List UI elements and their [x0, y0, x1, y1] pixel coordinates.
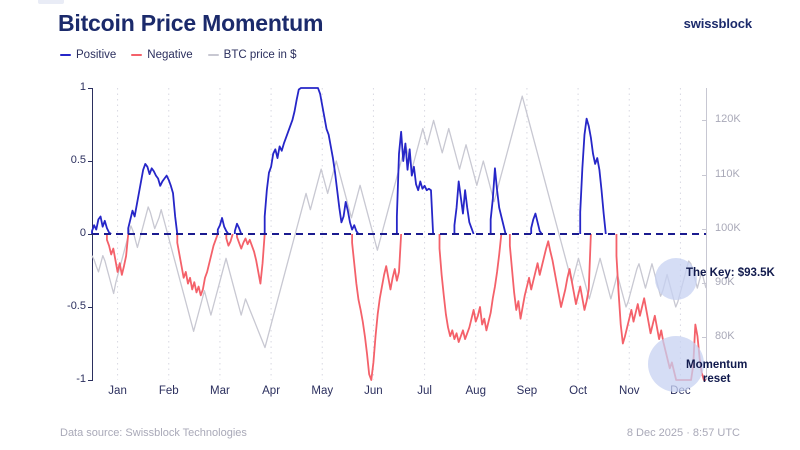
chart-page: Bitcoin Price Momentum swissblock Positi… — [0, 0, 800, 450]
y-axis-right-tick-label: 120K — [715, 113, 741, 125]
series-line-negative — [107, 234, 706, 380]
annotation-the-key: The Key: $93.5K — [686, 266, 775, 280]
plot-area[interactable] — [92, 88, 706, 380]
y-axis-left-tick-mark — [88, 161, 93, 162]
y-axis-left-tick-label: -0.5 — [67, 300, 86, 312]
legend-item-negative[interactable]: Negative — [131, 49, 192, 61]
x-axis-tick-label: Aug — [466, 385, 486, 397]
legend-label-btc-price: BTC price in $ — [224, 49, 297, 61]
y-axis-right-tick-mark — [702, 120, 707, 121]
y-axis-left-tick-label: -1 — [76, 373, 86, 385]
legend-dash-positive — [60, 54, 71, 56]
y-axis-right-tick-mark — [702, 283, 707, 284]
annotation-momentum-reset-line1: Momentum — [686, 358, 747, 372]
annotation-momentum-reset: Momentum reset — [686, 358, 747, 387]
y-axis-left-tick-mark — [88, 307, 93, 308]
x-axis-tick-label: Apr — [262, 385, 280, 397]
x-axis-tick-label: Feb — [159, 385, 179, 397]
legend-dash-negative — [131, 54, 142, 56]
x-axis-tick-label: Jun — [364, 385, 383, 397]
y-axis-left-tick-mark — [88, 380, 93, 381]
x-axis-tick-label: Sep — [517, 385, 537, 397]
annotation-momentum-reset-line2: reset — [686, 372, 747, 386]
x-axis-tick-label: Mar — [210, 385, 230, 397]
y-axis-right-tick-mark — [702, 337, 707, 338]
x-axis-tick-label: Jan — [108, 385, 127, 397]
chart-svg — [92, 88, 706, 380]
y-axis-left-tick-label: 1 — [80, 81, 86, 93]
top-partial-element — [38, 0, 64, 4]
brand-logo: swissblock — [684, 16, 752, 31]
series-line-btc-price — [92, 96, 706, 347]
y-axis-right-tick-label: 100K — [715, 222, 741, 234]
legend-item-positive[interactable]: Positive — [60, 49, 116, 61]
legend-label-negative: Negative — [147, 49, 192, 61]
footer-data-source: Data source: Swissblock Technologies — [60, 427, 247, 439]
x-axis-tick-label: Nov — [619, 385, 639, 397]
x-axis-tick-label: Jul — [417, 385, 432, 397]
chart-legend: Positive Negative BTC price in $ — [60, 49, 297, 61]
y-axis-right-tick-label: 110K — [715, 168, 740, 180]
x-axis-tick-label: May — [311, 385, 333, 397]
y-axis-right-tick-mark — [702, 229, 707, 230]
y-axis-left-tick-mark — [88, 234, 93, 235]
y-axis-right-tick-label: 80K — [715, 330, 735, 342]
page-title: Bitcoin Price Momentum — [58, 10, 323, 37]
legend-dash-btc-price — [208, 54, 219, 56]
footer-timestamp: 8 Dec 2025 · 8:57 UTC — [627, 427, 740, 439]
y-axis-right-tick-mark — [702, 175, 707, 176]
x-axis-tick-label: Oct — [569, 385, 587, 397]
y-axis-left-tick-label: 0 — [80, 227, 86, 239]
y-axis-left-tick-mark — [88, 88, 93, 89]
legend-label-positive: Positive — [76, 49, 116, 61]
y-axis-left-tick-label: 0.5 — [71, 154, 86, 166]
legend-item-btc-price[interactable]: BTC price in $ — [208, 49, 297, 61]
